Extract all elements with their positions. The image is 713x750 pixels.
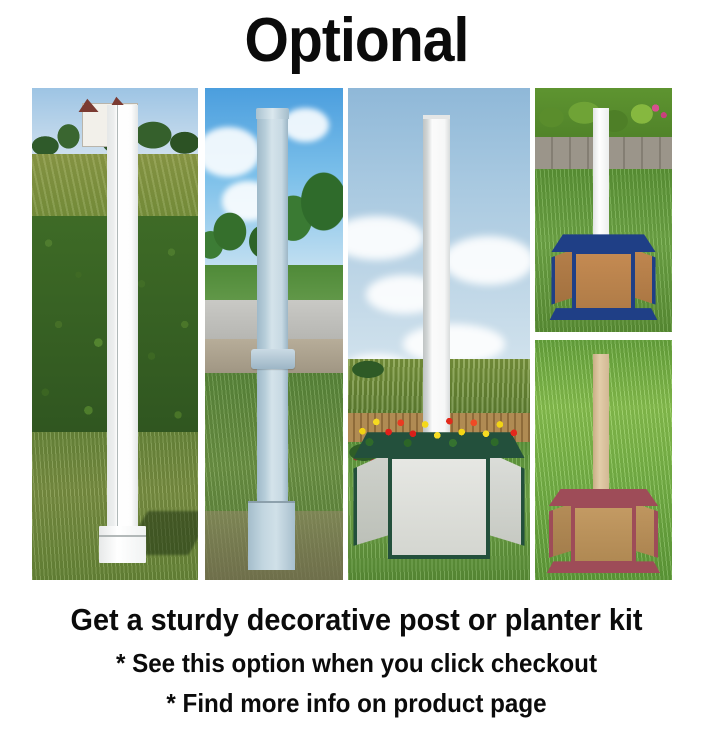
photo-blue-post-roadside[interactable] [205,88,343,580]
caption-bullet-product-page: * Find more info on product page [25,688,688,719]
panel4-scene [535,88,672,332]
post-collar-trim [251,349,295,370]
planter-side-right [632,248,656,304]
hexagonal-planter [551,234,655,322]
photo-white-post-soybean-field[interactable] [32,88,198,580]
planter-side-right [633,503,658,558]
white-post [107,105,139,558]
product-photo-strip [0,88,713,582]
post-base-box [248,501,295,570]
planter-side-right [487,452,525,546]
post-cap [256,108,289,120]
hexagonal-planter [549,489,659,575]
planter-front-panel [571,504,637,564]
hexagonal-planter [353,413,524,575]
photo-tan-post-with-pink-trim-planter[interactable] [535,340,672,580]
panel2-scene [205,88,343,580]
tree [348,334,392,393]
post-base-skirt [99,526,145,563]
panel1-scene [32,88,198,580]
panel3-scene [348,88,530,580]
planter-base-trim [549,308,657,320]
planter-front-panel [388,455,491,559]
planter-base-trim [547,561,661,573]
panel5-scene [535,340,672,580]
planter-side-left [353,452,391,546]
photo-post-with-blue-trim-planter[interactable] [535,88,672,332]
post-corner-edge [117,105,118,558]
caption-headline: Get a sturdy decorative post or planter … [25,602,688,638]
planter-front-panel [572,250,634,311]
flowers [352,406,526,448]
cloud [443,236,530,285]
post-cap [423,115,450,120]
caption-bullet-checkout: * See this option when you click checkou… [25,648,688,679]
page-title: Optional [29,8,685,73]
photo-post-with-flower-planter[interactable] [348,88,530,580]
